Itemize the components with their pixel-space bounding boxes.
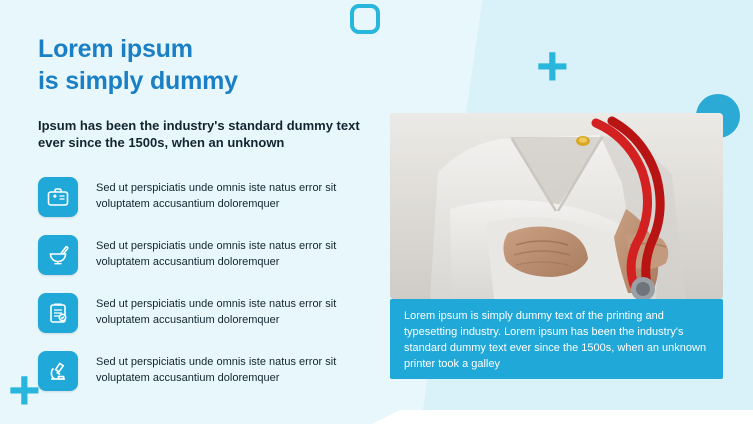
page-subtitle: Ipsum has been the industry's standard d… [38, 117, 378, 152]
list-item: Sed ut perspiciatis unde omnis iste natu… [38, 342, 378, 400]
plus-bottom-left-icon: + [8, 362, 41, 418]
feature-list: Sed ut perspiciatis unde omnis iste natu… [38, 168, 378, 400]
doctor-with-stethoscope-photo [390, 113, 723, 299]
page-title: Lorem ipsum is simply dummy [38, 33, 238, 97]
plus-top-right-icon: + [536, 38, 569, 94]
medical-bag-icon [38, 177, 78, 217]
caption-box: Lorem ipsum is simply dummy text of the … [390, 299, 723, 379]
list-item-label: Sed ut perspiciatis unde omnis iste natu… [96, 239, 378, 271]
list-item-label: Sed ut perspiciatis unde omnis iste natu… [96, 355, 378, 387]
list-item: Sed ut perspiciatis unde omnis iste natu… [38, 284, 378, 342]
mortar-and-pestle-icon [38, 235, 78, 275]
list-item-label: Sed ut perspiciatis unde omnis iste natu… [96, 181, 378, 213]
microscope-icon [38, 351, 78, 391]
ring-outline-icon [350, 4, 380, 34]
list-item: Sed ut perspiciatis unde omnis iste natu… [38, 226, 378, 284]
page-title-line1: Lorem ipsum [38, 33, 238, 65]
list-item-label: Sed ut perspiciatis unde omnis iste natu… [96, 297, 378, 329]
page-title-line2: is simply dummy [38, 65, 238, 97]
background-bottom-strip [0, 410, 400, 424]
clipboard-report-icon [38, 293, 78, 333]
slide: + + Lorem ipsum is simply dummy Ipsum ha… [0, 0, 753, 424]
list-item: Sed ut perspiciatis unde omnis iste natu… [38, 168, 378, 226]
